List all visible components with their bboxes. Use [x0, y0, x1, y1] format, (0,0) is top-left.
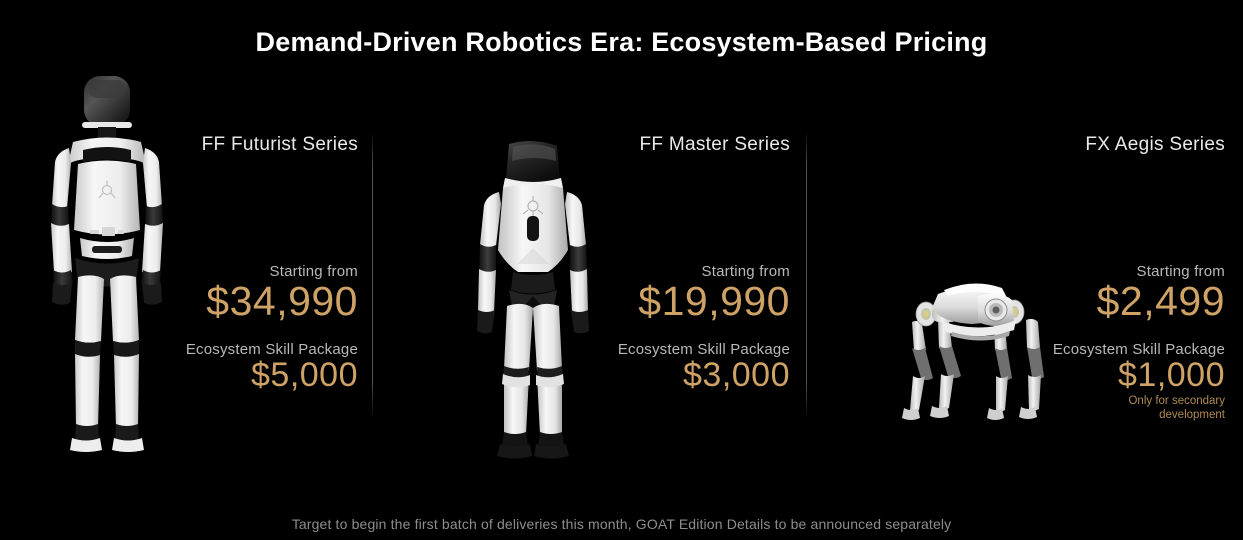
- column-divider-2: [806, 133, 807, 416]
- page-title: Demand-Driven Robotics Era: Ecosystem-Ba…: [0, 27, 1243, 58]
- series-name-master: FF Master Series: [582, 134, 790, 156]
- starting-price-futurist: $34,990: [150, 280, 358, 323]
- column-divider-1: [372, 133, 373, 416]
- package-note-aegis: Only for secondary development: [1105, 394, 1225, 423]
- footer-note: Target to begin the first batch of deliv…: [0, 516, 1243, 532]
- pricing-slide: Demand-Driven Robotics Era: Ecosystem-Ba…: [0, 0, 1243, 540]
- price-column-futurist: FF Futurist Series Starting from $34,990…: [150, 134, 358, 394]
- package-price-aegis: $1,000: [1017, 358, 1225, 394]
- starting-price-master: $19,990: [582, 280, 790, 323]
- price-column-aegis: FX Aegis Series Starting from $2,499 Eco…: [1017, 134, 1225, 422]
- package-price-master: $3,000: [582, 358, 790, 394]
- starting-price-aegis: $2,499: [1017, 280, 1225, 323]
- series-name-futurist: FF Futurist Series: [150, 134, 358, 156]
- package-price-futurist: $5,000: [150, 358, 358, 394]
- series-name-aegis: FX Aegis Series: [1017, 134, 1225, 156]
- price-column-master: FF Master Series Starting from $19,990 E…: [582, 134, 790, 394]
